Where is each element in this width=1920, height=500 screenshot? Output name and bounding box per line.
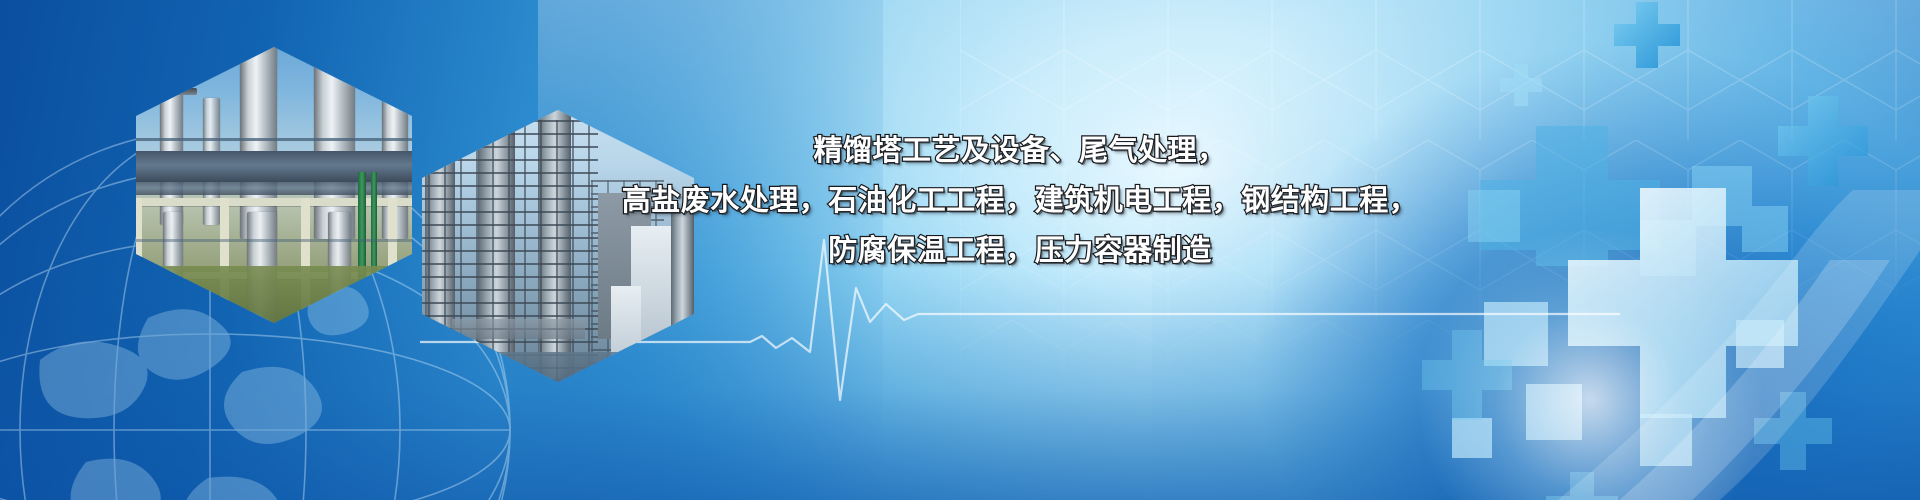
headline-line-1: 精馏塔工艺及设备、尾气处理， — [620, 126, 1420, 176]
headline: 精馏塔工艺及设备、尾气处理， 高盐废水处理，石油化工工程，建筑机电工程，钢结构工… — [620, 126, 1420, 276]
headline-line-2: 高盐废水处理，石油化工工程，建筑机电工程，钢结构工程， — [620, 176, 1420, 226]
headline-line-3: 防腐保温工程，压力容器制造 — [620, 226, 1420, 276]
promo-banner: 精馏塔工艺及设备、尾气处理， 高盐废水处理，石油化工工程，建筑机电工程，钢结构工… — [0, 0, 1920, 500]
